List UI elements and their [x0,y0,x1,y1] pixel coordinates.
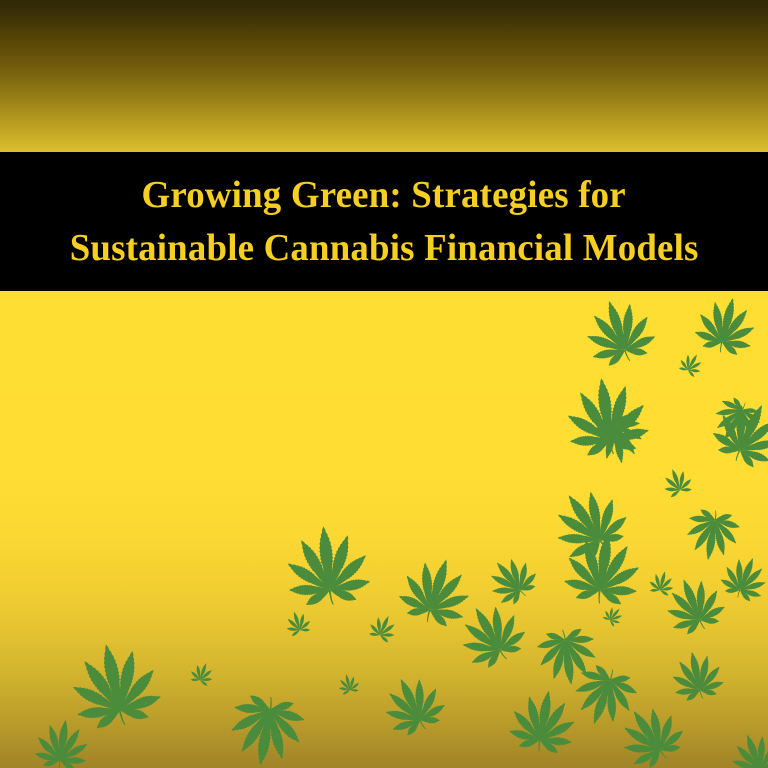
cover-page: Growing Green: Strategies for Sustainabl… [0,0,768,768]
cover-title-line-2: Sustainable Cannabis Financial Models [70,222,699,275]
title-band: Growing Green: Strategies for Sustainabl… [0,152,768,291]
cover-title-line-1: Growing Green: Strategies for [142,169,626,222]
cannabis-leaf-svg [0,290,768,768]
cannabis-leaf-artwork [0,290,768,768]
header-gradient-band [0,0,768,153]
